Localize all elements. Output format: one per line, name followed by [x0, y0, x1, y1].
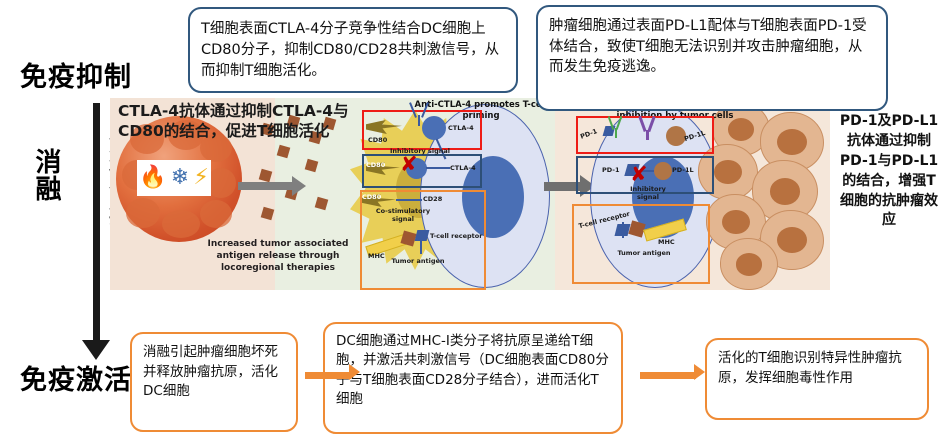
vertical-axis-arrow: [93, 103, 100, 348]
pd1l-label-b: PD-1L: [672, 166, 694, 174]
antigen-release-arrow: [238, 182, 294, 190]
snowflake-icon: ❄: [171, 167, 189, 189]
cd80-label-a: CD80: [368, 136, 387, 144]
costimulatory-signal-label: Co-stimulatory signal: [366, 208, 440, 224]
antigen-release-arrowhead: [292, 176, 306, 196]
callout-ctla4-mechanism: T细胞表面CTLA-4分子竞争性结合DC细胞上CD80分子，抑制CD80/CD2…: [188, 7, 518, 93]
pd1-label-b: PD-1: [602, 166, 620, 174]
inhibitory-signal-label-right: Inhibitory signal: [620, 186, 676, 202]
callout-dc-presentation-step: DC细胞通过MHC-I类分子将抗原呈递给T细胞，并激活共刺激信号（DC细胞表面C…: [323, 322, 623, 434]
ctla4-label-b: CTLA-4: [450, 164, 476, 172]
flow-arrow-dc-to-tcell: [640, 372, 696, 379]
antibody-stem: [418, 115, 420, 126]
overlay-title-ctla4: CTLA-4抗体通过抑制CTLA-4与CD80的结合，促进T细胞活化: [118, 101, 368, 142]
tcr-mhc-highlight-box: [572, 204, 710, 284]
flow-arrowhead-dc-to-tcell: [694, 364, 705, 380]
blocked-x-icon-right: ✘: [630, 164, 648, 185]
axis-label-ablation: 消融: [34, 150, 64, 203]
callout-tcell-cytotoxic-step: 活化的T细胞识别特异性肿瘤抗原，发挥细胞毒性作用: [705, 338, 929, 420]
tumor-cell: [720, 238, 778, 290]
lightning-bolt-icon: ⚡: [193, 167, 208, 189]
vertical-axis-arrowhead: [82, 340, 110, 360]
callout-pd1-mechanism: 肿瘤细胞通过表面PD-L1配体与T细胞表面PD-1受体结合，致使T细胞无法识别并…: [536, 5, 888, 111]
pdl1-ligand-b: [654, 162, 672, 180]
antibody-stem-green: [615, 128, 617, 138]
blocked-x-icon-left: ✘: [400, 154, 418, 175]
cd80-label-b: CD80: [366, 161, 385, 169]
antibody-stem-purple: [646, 130, 649, 140]
tumor-antigen-label-right: Tumor antigen: [616, 250, 672, 258]
ctla4-receptor-a: [422, 116, 446, 140]
flame-icon: 🔥: [139, 167, 166, 189]
cd28-label: CD28: [423, 195, 442, 203]
antigen-release-caption: Increased tumor associated antigen relea…: [203, 238, 353, 274]
callout-ablation-step: 消融引起肿瘤细胞坏死并释放肿瘤抗原，活化DC细胞: [130, 332, 298, 432]
cd80-label-c: CD80: [362, 193, 381, 201]
cd28-link: [396, 199, 422, 201]
caption-pd1-pdl1: PD-1及PD-L1抗体通过抑制PD-1与PD-L1的结合，增强T细胞的抗肿瘤效…: [836, 112, 942, 231]
flow-arrow-ablation-to-dc: [305, 372, 351, 379]
ablation-modality-icon-group: 🔥 ❄ ⚡: [137, 160, 211, 196]
flow-arrowhead-ablation-to-dc: [349, 364, 360, 380]
mhc-label-left: MHC: [368, 252, 385, 260]
ctla4-label-a: CTLA-4: [448, 124, 474, 132]
tumor-antigen-label-left: Tumor antigen: [390, 258, 446, 266]
inhibitory-signal-label-left: Inhibitory signal: [372, 148, 468, 156]
axis-label-immunoactivation: 免疫激活: [20, 358, 132, 397]
ctla4-link: [426, 167, 450, 169]
tcr-label-left: T-cell receptor: [430, 232, 482, 240]
tcr-stem-left: [420, 240, 422, 254]
mhc-label-right: MHC: [658, 238, 675, 246]
axis-label-immunosuppression: 免疫抑制: [20, 55, 132, 94]
